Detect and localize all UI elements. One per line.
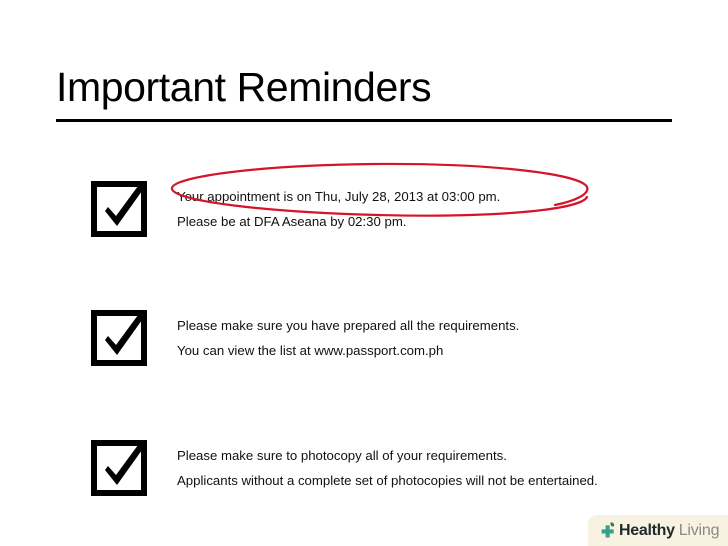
reminder-text-block-2: Please make sure you have prepared all t… — [177, 313, 717, 363]
watermark-logo: Healthy Living — [598, 519, 719, 542]
medical-cross-leaf-icon — [598, 521, 618, 541]
slide-canvas: Important Reminders Your appointment is … — [0, 0, 728, 546]
checked-checkbox-icon — [91, 307, 149, 365]
reminder-line: Your appointment is on Thu, July 28, 201… — [177, 184, 717, 209]
watermark-brand-bold: Healthy — [619, 522, 675, 540]
page-title: Important Reminders — [56, 64, 672, 110]
reminder-line: Please make sure to photocopy all of you… — [177, 443, 717, 468]
page-title-text: Important Reminders — [56, 64, 672, 110]
checked-checkbox-icon — [91, 437, 149, 495]
reminder-text-block-1: Your appointment is on Thu, July 28, 201… — [177, 184, 717, 234]
reminder-line: Applicants without a complete set of pho… — [177, 468, 717, 493]
reminder-line: You can view the list at www.passport.co… — [177, 338, 717, 363]
title-divider — [56, 119, 672, 122]
reminder-text-block-3: Please make sure to photocopy all of you… — [177, 443, 717, 493]
reminder-line: Please be at DFA Aseana by 02:30 pm. — [177, 209, 717, 234]
reminder-line: Please make sure you have prepared all t… — [177, 313, 717, 338]
watermark-banner: Healthy Living — [588, 515, 728, 546]
checked-checkbox-icon — [91, 178, 149, 236]
watermark-brand-light: Living — [679, 522, 720, 540]
